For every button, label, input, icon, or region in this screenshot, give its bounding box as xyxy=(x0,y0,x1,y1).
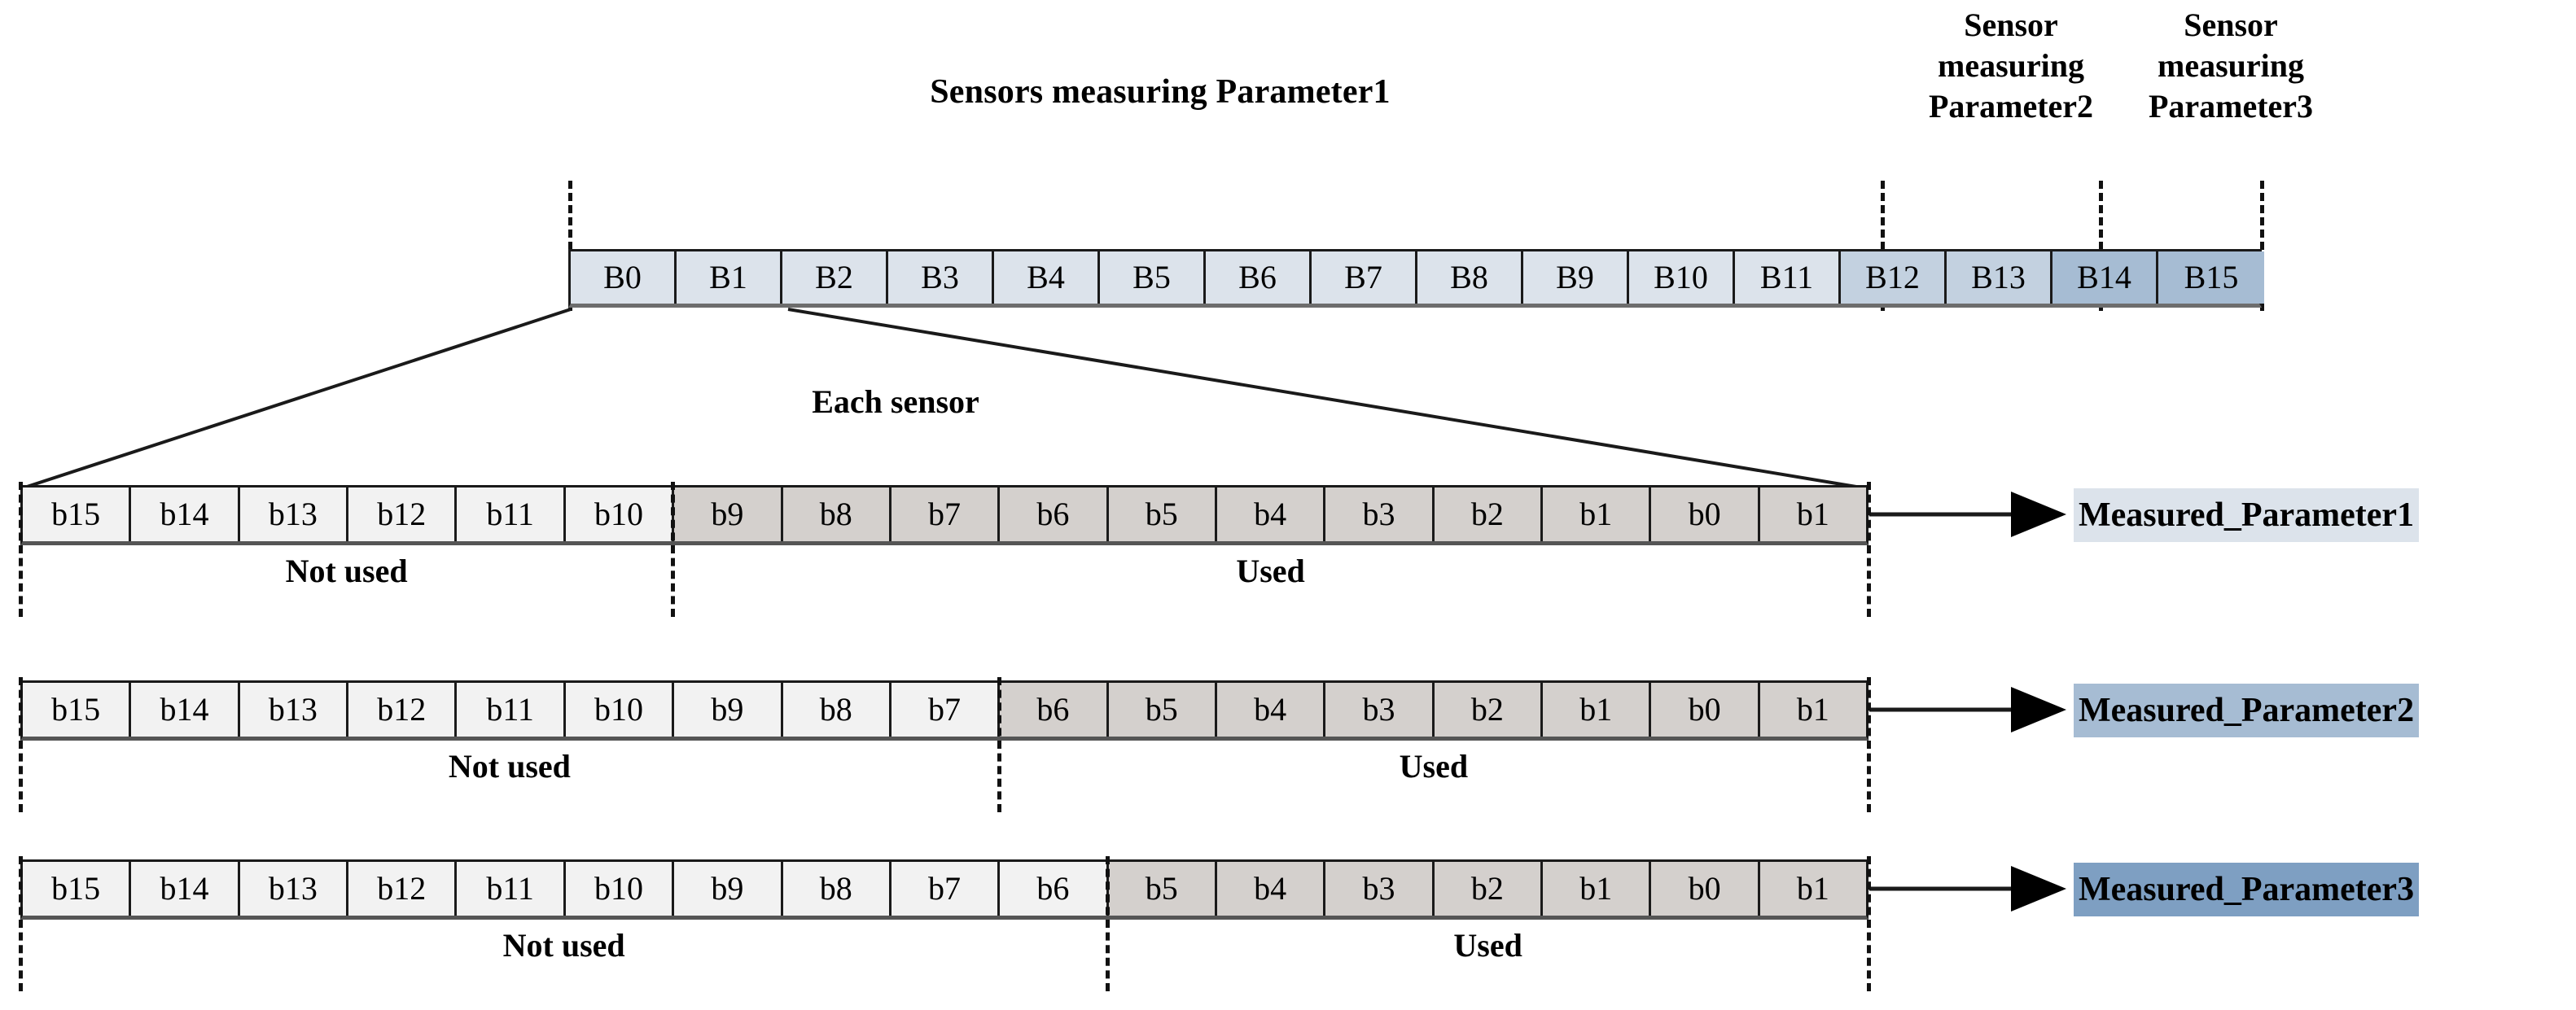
row-parameter3-dash-left xyxy=(19,856,23,991)
bit-cell: b1 xyxy=(1543,683,1651,737)
bit-cell: b6 xyxy=(1000,862,1108,916)
bit-cell: b9 xyxy=(674,862,782,916)
bit-cell: b14 xyxy=(131,488,239,541)
bit-cell: b10 xyxy=(566,862,674,916)
bit-cell: b13 xyxy=(240,488,348,541)
row-parameter1-strip: b15b14b13b12b11b10b9b8b7b6b5b4b3b2b1b0b1 xyxy=(20,485,1868,545)
diagram-canvas: Sensors measuring Parameter1 Sensor meas… xyxy=(0,0,2576,1010)
bit-cell: b5 xyxy=(1109,488,1217,541)
bit-cell: b8 xyxy=(783,683,892,737)
bit-cell: b13 xyxy=(240,862,348,916)
row-parameter2-dash-right xyxy=(1867,677,1871,812)
bit-cell: b1 xyxy=(1760,683,1866,737)
row-parameter2-dash-split xyxy=(997,677,1001,812)
bit-cell: b15 xyxy=(23,488,131,541)
bit-cell: b7 xyxy=(892,862,1000,916)
row-parameter3-output-box: Measured_Parameter3 xyxy=(2074,863,2419,916)
bit-cell: b10 xyxy=(566,683,674,737)
row-parameter3-dash-split xyxy=(1106,856,1110,991)
bit-cell: b3 xyxy=(1325,488,1434,541)
bit-cell: b2 xyxy=(1435,488,1543,541)
bit-cell: b12 xyxy=(348,488,457,541)
bit-cell: b2 xyxy=(1435,683,1543,737)
bit-cell: b8 xyxy=(783,488,892,541)
row-parameter2-used-label: Used xyxy=(999,747,1868,786)
row-parameter1-dash-right xyxy=(1867,482,1871,617)
bit-cell: b11 xyxy=(457,488,565,541)
bit-cell: b7 xyxy=(892,683,1000,737)
row-parameter2-not-used-label: Not used xyxy=(20,747,999,786)
bit-cell: b4 xyxy=(1217,683,1325,737)
bit-cell: b9 xyxy=(674,488,782,541)
bit-cell: b1 xyxy=(1760,488,1866,541)
bit-cell: b14 xyxy=(131,862,239,916)
row-parameter1-not-used-label: Not used xyxy=(20,552,672,591)
bit-cell: b1 xyxy=(1543,488,1651,541)
bit-cell: b9 xyxy=(674,683,782,737)
bit-cell: b5 xyxy=(1109,683,1217,737)
bit-cell: b12 xyxy=(348,683,457,737)
bit-cell: b12 xyxy=(348,862,457,916)
bit-cell: b11 xyxy=(457,862,565,916)
bit-cell: b15 xyxy=(23,683,131,737)
row-parameter3-strip: b15b14b13b12b11b10b9b8b7b6b5b4b3b2b1b0b1 xyxy=(20,859,1868,920)
bit-cell: b1 xyxy=(1760,862,1866,916)
bit-rows-container: b15b14b13b12b11b10b9b8b7b6b5b4b3b2b1b0b1… xyxy=(0,0,2576,1010)
bit-cell: b3 xyxy=(1325,862,1434,916)
row-parameter1-used-label: Used xyxy=(672,552,1868,591)
bit-cell: b4 xyxy=(1217,862,1325,916)
bit-cell: b14 xyxy=(131,683,239,737)
bit-cell: b2 xyxy=(1435,862,1543,916)
bit-cell: b6 xyxy=(1000,683,1108,737)
row-parameter2-dash-left xyxy=(19,677,23,812)
bit-cell: b15 xyxy=(23,862,131,916)
bit-cell: b13 xyxy=(240,683,348,737)
bit-cell: b0 xyxy=(1651,862,1759,916)
row-parameter1-output-box: Measured_Parameter1 xyxy=(2074,488,2419,542)
row-parameter2-output-box: Measured_Parameter2 xyxy=(2074,684,2419,737)
bit-cell: b1 xyxy=(1543,862,1651,916)
bit-cell: b10 xyxy=(566,488,674,541)
row-parameter1-dash-left xyxy=(19,482,23,617)
bit-cell: b5 xyxy=(1109,862,1217,916)
bit-cell: b4 xyxy=(1217,488,1325,541)
bit-cell: b8 xyxy=(783,862,892,916)
bit-cell: b11 xyxy=(457,683,565,737)
row-parameter3-not-used-label: Not used xyxy=(20,926,1107,965)
bit-cell: b0 xyxy=(1651,488,1759,541)
row-parameter3-dash-right xyxy=(1867,856,1871,991)
row-parameter1-dash-split xyxy=(671,482,675,617)
row-parameter3-used-label: Used xyxy=(1107,926,1868,965)
bit-cell: b0 xyxy=(1651,683,1759,737)
bit-cell: b6 xyxy=(1000,488,1108,541)
bit-cell: b3 xyxy=(1325,683,1434,737)
bit-cell: b7 xyxy=(892,488,1000,541)
row-parameter2-strip: b15b14b13b12b11b10b9b8b7b6b5b4b3b2b1b0b1 xyxy=(20,680,1868,741)
